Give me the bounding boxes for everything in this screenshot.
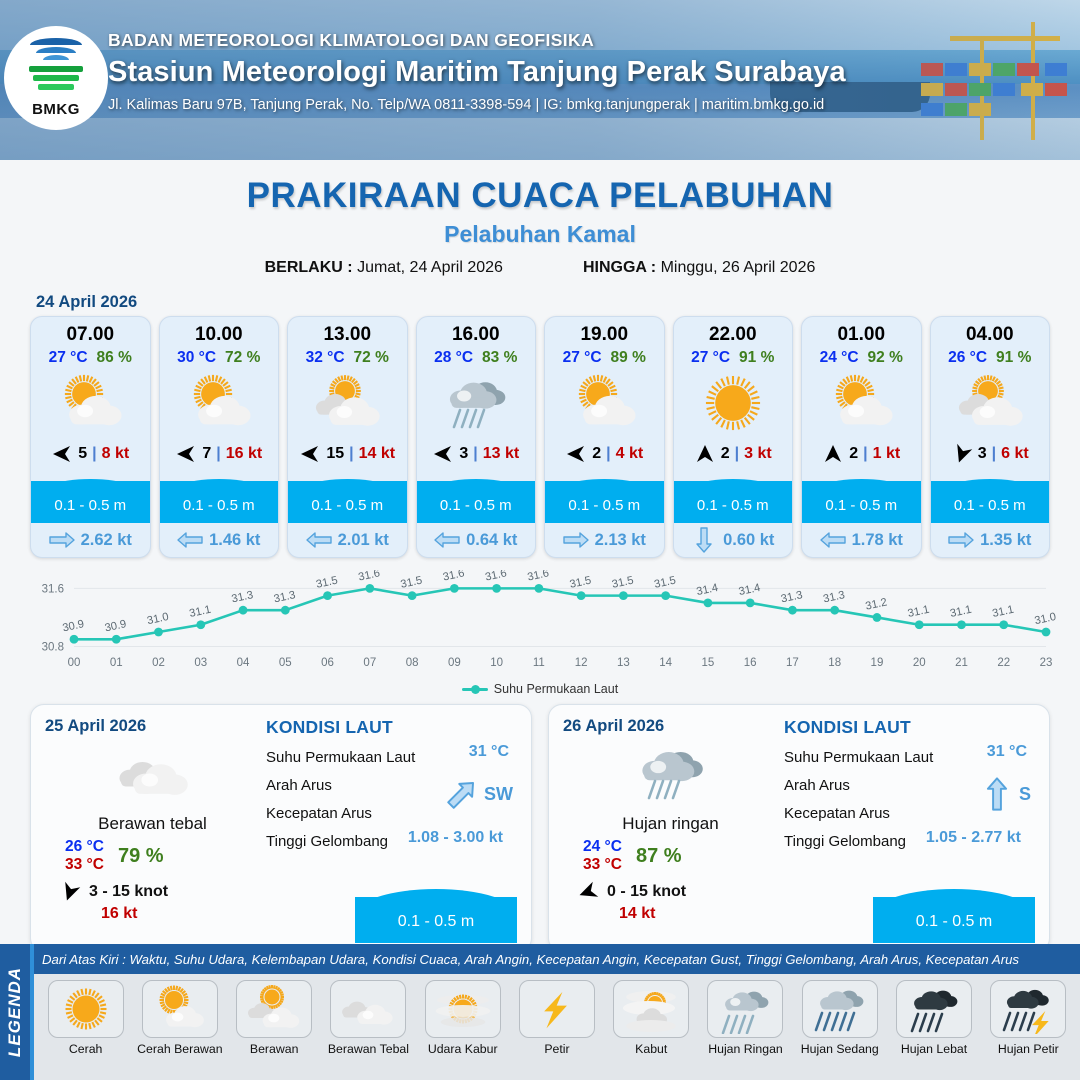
current-direction-arrow-icon [948, 530, 974, 550]
svg-text:08: 08 [406, 657, 419, 669]
validity-row: BERLAKU : Jumat, 24 April 2026 HINGGA : … [0, 259, 1080, 277]
daily-temps: 26 °C 33 °C 79 % [45, 838, 260, 874]
card-temperature: 32 °C [306, 349, 345, 367]
card-wind-separator: | [349, 445, 353, 463]
daily-wind-value: 0 - 15 knot [607, 883, 686, 901]
card-wave-height: 0.1 - 0.5 m [288, 497, 407, 514]
card-temp-hum: 24 °C 92 % [802, 349, 921, 367]
chart-legend-label: Suhu Permukaan Laut [494, 682, 618, 696]
chart-legend-marker-icon [462, 688, 488, 691]
svg-text:31.1: 31.1 [949, 604, 973, 620]
legend-item: Hujan Petir [985, 980, 1072, 1080]
daily-sea-conditions: KONDISI LAUT Suhu Permukaan Laut Arah Ar… [778, 717, 1035, 941]
current-direction-arrow-icon [820, 530, 846, 550]
svg-text:31.3: 31.3 [273, 589, 297, 605]
legend-note: Dari Atas Kiri : Waktu, Suhu Udara, Kele… [42, 952, 1074, 967]
cerah-berawan-icon [160, 367, 279, 439]
card-wave: 0.1 - 0.5 m [160, 471, 279, 523]
speed-label: Kecepatan Arus [266, 805, 517, 822]
card-wave: 0.1 - 0.5 m [288, 471, 407, 523]
daily-condition: Berawan tebal [45, 814, 260, 834]
current-direction-arrow-icon [980, 781, 1014, 807]
speed-value: 1.05 - 2.77 kt [926, 829, 1021, 847]
card-wind-separator: | [606, 445, 610, 463]
speed-value: 1.08 - 3.00 kt [408, 829, 503, 847]
card-time: 10.00 [160, 317, 279, 346]
card-temp-hum: 27 °C 91 % [674, 349, 793, 367]
current-direction-arrow-icon [434, 530, 460, 550]
card-wind: 2 | 3 kt [674, 439, 793, 469]
svg-text:10: 10 [490, 657, 503, 669]
legend-item: Udara Kabur [419, 980, 506, 1080]
svg-text:30.9: 30.9 [104, 618, 128, 634]
card-wave-height: 0.1 - 0.5 m [802, 497, 921, 514]
card-time: 13.00 [288, 317, 407, 346]
svg-text:31.6: 31.6 [357, 570, 381, 584]
berawan-tebal-icon [330, 980, 406, 1038]
card-wind: 5 | 8 kt [31, 439, 150, 469]
card-humidity: 86 % [97, 349, 132, 367]
forecast-card: 04.00 26 °C 91 % 3 | 6 kt 0.1 - 0.5 m [930, 316, 1051, 558]
wind-direction-arrow-icon [951, 444, 973, 464]
card-wind-separator: | [992, 445, 996, 463]
legend-item: Kabut [608, 980, 695, 1080]
svg-text:02: 02 [152, 657, 165, 669]
svg-text:05: 05 [279, 657, 292, 669]
daily-temp-max: 33 °C [583, 856, 622, 874]
current-direction-arrow-icon [177, 530, 203, 550]
svg-text:31.4: 31.4 [738, 582, 762, 598]
cerah-icon [48, 980, 124, 1038]
svg-text:31.0: 31.0 [146, 611, 170, 627]
legend-item-label: Hujan Ringan [708, 1042, 783, 1056]
forecast-card: 13.00 32 °C 72 % 15 | 14 kt 0.1 - 0.5 m [287, 316, 408, 558]
card-current: 0.64 kt [417, 523, 536, 557]
arus-value-group: SW [445, 781, 513, 807]
daily-date: 26 April 2026 [563, 717, 778, 736]
svg-text:31.0: 31.0 [1033, 611, 1057, 627]
card-current-speed: 2.62 kt [81, 531, 132, 550]
svg-text:22: 22 [997, 657, 1010, 669]
agency-name: BADAN METEOROLOGI KLIMATOLOGI DAN GEOFIS… [108, 30, 846, 51]
cerah-icon [674, 367, 793, 439]
logo-label: BMKG [32, 101, 80, 118]
card-wind: 7 | 16 kt [160, 439, 279, 469]
kabut-icon [613, 980, 689, 1038]
sst-value: 31 °C [987, 743, 1027, 761]
berawan-icon [236, 980, 312, 1038]
card-wind-direction: 3 [459, 445, 468, 463]
card-wind: 2 | 1 kt [802, 439, 921, 469]
forecast-date-label: 24 April 2026 [36, 293, 1080, 312]
card-time: 16.00 [417, 317, 536, 346]
card-wind: 3 | 6 kt [931, 439, 1050, 469]
svg-text:31.1: 31.1 [991, 604, 1015, 620]
current-direction-arrow-icon [306, 530, 332, 550]
legend-item: Hujan Lebat [890, 980, 977, 1080]
card-wave-height: 0.1 - 0.5 m [674, 497, 793, 514]
daily-wave-height: 0.1 - 0.5 m [355, 913, 517, 931]
current-direction-arrow-icon [49, 530, 75, 550]
arus-value: SW [484, 784, 513, 805]
sea-section-title: KONDISI LAUT [266, 717, 517, 738]
card-current: 2.62 kt [31, 523, 150, 557]
card-wind-direction: 2 [592, 445, 601, 463]
logo-arc-icon [30, 38, 82, 62]
svg-text:07: 07 [363, 657, 376, 669]
daily-condition: Hujan ringan [563, 814, 778, 834]
card-current-speed: 2.13 kt [595, 531, 646, 550]
svg-text:17: 17 [786, 657, 799, 669]
card-current: 1.35 kt [931, 523, 1050, 557]
card-wave: 0.1 - 0.5 m [417, 471, 536, 523]
legend-item: Cerah [42, 980, 129, 1080]
chart-legend: Suhu Permukaan Laut [0, 682, 1080, 696]
card-wind-direction: 15 [326, 445, 344, 463]
card-gust-speed: 4 kt [616, 445, 644, 463]
card-time: 07.00 [31, 317, 150, 346]
card-current-speed: 2.01 kt [338, 531, 389, 550]
hujan-lebat-icon [896, 980, 972, 1038]
card-wind: 2 | 4 kt [545, 439, 664, 469]
svg-text:31.6: 31.6 [484, 570, 508, 584]
card-gust-speed: 8 kt [102, 445, 130, 463]
sst-value: 31 °C [469, 743, 509, 761]
card-current: 2.13 kt [545, 523, 664, 557]
svg-text:21: 21 [955, 657, 968, 669]
card-temp-hum: 28 °C 83 % [417, 349, 536, 367]
card-temperature: 27 °C [49, 349, 88, 367]
wind-direction-arrow-icon [175, 444, 197, 464]
cerah-berawan-icon [31, 367, 150, 439]
daily-wind: 0 - 15 knot [563, 882, 778, 902]
wind-direction-arrow-icon [59, 882, 81, 902]
daily-wind: 3 - 15 knot [45, 882, 260, 902]
card-wind-direction: 2 [849, 445, 858, 463]
svg-text:20: 20 [913, 657, 926, 669]
card-gust-speed: 1 kt [873, 445, 901, 463]
daily-temps: 24 °C 33 °C 87 % [563, 838, 778, 874]
svg-text:12: 12 [575, 657, 588, 669]
header-text-block: BADAN METEOROLOGI KLIMATOLOGI DAN GEOFIS… [108, 30, 846, 113]
legend-tab-label: LEGENDA [5, 967, 25, 1057]
hujan-ringan-icon [563, 738, 778, 810]
station-name: Stasiun Meteorologi Maritim Tanjung Pera… [108, 56, 846, 89]
card-temp-hum: 30 °C 72 % [160, 349, 279, 367]
page-title-block: PRAKIRAAN CUACA PELABUHAN Pelabuhan Kama… [0, 160, 1080, 277]
svg-text:31.6: 31.6 [42, 583, 64, 595]
current-direction-arrow-icon [563, 530, 589, 550]
svg-text:03: 03 [194, 657, 207, 669]
card-time: 22.00 [674, 317, 793, 346]
card-current: 2.01 kt [288, 523, 407, 557]
card-humidity: 89 % [611, 349, 646, 367]
bmkg-logo: BMKG [4, 26, 108, 130]
legend-section: LEGENDA Dari Atas Kiri : Waktu, Suhu Uda… [0, 944, 1080, 1080]
card-gust-speed: 13 kt [483, 445, 519, 463]
card-wind-direction: 7 [202, 445, 211, 463]
wind-direction-arrow-icon [51, 444, 73, 464]
wind-direction-arrow-icon [577, 882, 599, 902]
forecast-card: 10.00 30 °C 72 % 7 | 16 kt 0.1 - 0.5 m 1… [159, 316, 280, 558]
daily-panel-list: 25 April 2026 Berawan tebal 26 °C 33 °C … [0, 696, 1080, 952]
card-current-speed: 1.78 kt [852, 531, 903, 550]
card-wave-height: 0.1 - 0.5 m [931, 497, 1050, 514]
legend-icon-panel: Cerah Cerah Berawan Berawan Beraw [34, 974, 1080, 1080]
page-header: BMKG BADAN METEOROLOGI KLIMATOLOGI DAN G… [0, 0, 1080, 160]
card-wave-height: 0.1 - 0.5 m [31, 497, 150, 514]
legend-item-label: Berawan Tebal [328, 1042, 409, 1056]
card-wave: 0.1 - 0.5 m [802, 471, 921, 523]
card-wind-separator: | [216, 445, 220, 463]
cerah-berawan-icon [545, 367, 664, 439]
card-temperature: 24 °C [820, 349, 859, 367]
legend-item: Berawan Tebal [325, 980, 412, 1080]
svg-text:19: 19 [871, 657, 884, 669]
daily-temp-min: 26 °C [65, 838, 104, 856]
card-current-speed: 0.60 kt [723, 531, 774, 550]
card-humidity: 92 % [868, 349, 903, 367]
card-wave: 0.1 - 0.5 m [674, 471, 793, 523]
forecast-card: 22.00 27 °C 91 % 2 | 3 kt 0.1 - 0.5 m 0.… [673, 316, 794, 558]
svg-text:31.6: 31.6 [526, 570, 550, 584]
wind-direction-arrow-icon [565, 444, 587, 464]
card-humidity: 72 % [354, 349, 389, 367]
card-current: 0.60 kt [674, 523, 793, 557]
card-wind-direction: 3 [978, 445, 987, 463]
card-wind-separator: | [863, 445, 867, 463]
valid-from: BERLAKU : Jumat, 24 April 2026 [265, 259, 503, 277]
arus-value-group: S [980, 781, 1031, 807]
daily-temp-max: 33 °C [65, 856, 104, 874]
card-gust-speed: 16 kt [226, 445, 262, 463]
card-current: 1.78 kt [802, 523, 921, 557]
daily-temp-min: 24 °C [583, 838, 622, 856]
svg-text:31.6: 31.6 [442, 570, 466, 584]
petir-icon [519, 980, 595, 1038]
berawan-tebal-icon [45, 738, 260, 810]
svg-text:11: 11 [533, 657, 545, 669]
svg-text:31.1: 31.1 [907, 604, 931, 620]
card-wave-height: 0.1 - 0.5 m [417, 497, 536, 514]
svg-text:06: 06 [321, 657, 334, 669]
daily-date: 25 April 2026 [45, 717, 260, 736]
hujan-ringan-icon [417, 367, 536, 439]
card-wind-direction: 5 [78, 445, 87, 463]
legend-item-label: Hujan Lebat [901, 1042, 967, 1056]
legend-item-label: Petir [544, 1042, 569, 1056]
card-humidity: 72 % [225, 349, 260, 367]
svg-text:16: 16 [744, 657, 757, 669]
legend-item: Hujan Ringan [702, 980, 789, 1080]
legend-item: Cerah Berawan [136, 980, 223, 1080]
card-current: 1.46 kt [160, 523, 279, 557]
card-temp-hum: 26 °C 91 % [931, 349, 1050, 367]
legend-item-label: Udara Kabur [428, 1042, 498, 1056]
daily-gust: 16 kt [45, 905, 260, 923]
svg-text:31.2: 31.2 [864, 596, 888, 612]
card-humidity: 91 % [996, 349, 1031, 367]
card-temp-hum: 32 °C 72 % [288, 349, 407, 367]
card-wind-separator: | [473, 445, 477, 463]
hujan-petir-icon [990, 980, 1066, 1038]
card-humidity: 91 % [739, 349, 774, 367]
current-direction-arrow-icon [445, 781, 479, 807]
page-subtitle: Pelabuhan Kamal [0, 221, 1080, 248]
legend-item-label: Cerah [69, 1042, 103, 1056]
card-temperature: 27 °C [691, 349, 730, 367]
cerah-berawan-icon [802, 367, 921, 439]
card-wind-separator: | [735, 445, 739, 463]
svg-text:14: 14 [659, 657, 672, 669]
card-temp-hum: 27 °C 86 % [31, 349, 150, 367]
berawan-icon [288, 367, 407, 439]
legend-item-label: Hujan Sedang [801, 1042, 879, 1056]
sst-chart: 31.630.830.90030.90131.00231.10331.30431… [18, 570, 1062, 680]
daily-wave-box: 0.1 - 0.5 m [355, 883, 517, 943]
card-time: 19.00 [545, 317, 664, 346]
legend-item-label: Cerah Berawan [137, 1042, 222, 1056]
card-gust-speed: 6 kt [1001, 445, 1029, 463]
svg-text:30.9: 30.9 [61, 618, 85, 634]
valid-to-value: Minggu, 26 April 2026 [661, 259, 816, 276]
daily-wave-height: 0.1 - 0.5 m [873, 913, 1035, 931]
svg-text:18: 18 [828, 657, 841, 669]
legend-item: Hujan Sedang [796, 980, 883, 1080]
forecast-card-list: 07.00 27 °C 86 % 5 | 8 kt 0.1 - 0.5 m 2.… [0, 316, 1080, 558]
wind-direction-arrow-icon [694, 444, 716, 464]
svg-text:04: 04 [237, 657, 250, 669]
daily-panel: 26 April 2026 Hujan ringan 24 °C 33 °C 8… [548, 704, 1050, 952]
card-humidity: 83 % [482, 349, 517, 367]
udara-kabur-icon [425, 980, 501, 1038]
card-wave-height: 0.1 - 0.5 m [545, 497, 664, 514]
forecast-card: 16.00 28 °C 83 % 3 | 13 kt 0.1 - 0.5 m [416, 316, 537, 558]
card-temperature: 28 °C [434, 349, 473, 367]
cerah-berawan-icon [142, 980, 218, 1038]
daily-humidity: 79 % [118, 845, 164, 868]
forecast-card: 19.00 27 °C 89 % 2 | 4 kt 0.1 - 0.5 m 2.… [544, 316, 665, 558]
page-title: PRAKIRAAN CUACA PELABUHAN [0, 176, 1080, 216]
berawan-icon [931, 367, 1050, 439]
svg-text:31.3: 31.3 [780, 589, 804, 605]
svg-text:00: 00 [68, 657, 81, 669]
daily-left: 25 April 2026 Berawan tebal 26 °C 33 °C … [45, 717, 260, 941]
current-direction-arrow-icon [691, 530, 717, 550]
svg-text:01: 01 [110, 657, 123, 669]
card-wave-height: 0.1 - 0.5 m [160, 497, 279, 514]
legend-item-label: Hujan Petir [998, 1042, 1059, 1056]
card-wind: 15 | 14 kt [288, 439, 407, 469]
svg-text:09: 09 [448, 657, 461, 669]
hujan-ringan-icon [707, 980, 783, 1038]
daily-sea-conditions: KONDISI LAUT Suhu Permukaan Laut Arah Ar… [260, 717, 517, 941]
card-wind: 3 | 13 kt [417, 439, 536, 469]
card-wave: 0.1 - 0.5 m [545, 471, 664, 523]
card-time: 04.00 [931, 317, 1050, 346]
daily-panel: 25 April 2026 Berawan tebal 26 °C 33 °C … [30, 704, 532, 952]
legend-tab: LEGENDA [0, 944, 30, 1080]
svg-text:13: 13 [617, 657, 630, 669]
svg-text:30.8: 30.8 [42, 642, 64, 654]
legend-item: Petir [513, 980, 600, 1080]
legend-item: Berawan [231, 980, 318, 1080]
forecast-card: 07.00 27 °C 86 % 5 | 8 kt 0.1 - 0.5 m 2.… [30, 316, 151, 558]
card-temp-hum: 27 °C 89 % [545, 349, 664, 367]
svg-text:23: 23 [1040, 657, 1053, 669]
card-gust-speed: 3 kt [744, 445, 772, 463]
sea-section-title: KONDISI LAUT [784, 717, 1035, 738]
card-wind-separator: | [92, 445, 96, 463]
wind-direction-arrow-icon [822, 444, 844, 464]
valid-to-label: HINGGA : [583, 259, 656, 276]
card-gust-speed: 14 kt [359, 445, 395, 463]
card-temperature: 30 °C [177, 349, 216, 367]
valid-to: HINGGA : Minggu, 26 April 2026 [583, 259, 815, 277]
daily-left: 26 April 2026 Hujan ringan 24 °C 33 °C 8… [563, 717, 778, 941]
hujan-sedang-icon [802, 980, 878, 1038]
card-wind-direction: 2 [721, 445, 730, 463]
card-current-speed: 1.35 kt [980, 531, 1031, 550]
wind-direction-arrow-icon [432, 444, 454, 464]
valid-from-label: BERLAKU : [265, 259, 353, 276]
daily-gust: 14 kt [563, 905, 778, 923]
card-current-speed: 0.64 kt [466, 531, 517, 550]
daily-wave-box: 0.1 - 0.5 m [873, 883, 1035, 943]
card-wave: 0.1 - 0.5 m [931, 471, 1050, 523]
svg-text:31.1: 31.1 [188, 604, 212, 620]
card-current-speed: 1.46 kt [209, 531, 260, 550]
sst-chart-svg: 31.630.830.90030.90131.00231.10331.30431… [18, 570, 1062, 674]
card-temperature: 27 °C [563, 349, 602, 367]
svg-text:31.3: 31.3 [822, 589, 846, 605]
daily-wind-value: 3 - 15 knot [89, 883, 168, 901]
forecast-card: 01.00 24 °C 92 % 2 | 1 kt 0.1 - 0.5 m 1.… [801, 316, 922, 558]
daily-humidity: 87 % [636, 845, 682, 868]
svg-text:15: 15 [702, 657, 715, 669]
card-temperature: 26 °C [948, 349, 987, 367]
legend-item-label: Berawan [250, 1042, 299, 1056]
svg-text:31.3: 31.3 [231, 589, 255, 605]
card-time: 01.00 [802, 317, 921, 346]
legend-item-label: Kabut [635, 1042, 667, 1056]
contact-info: Jl. Kalimas Baru 97B, Tanjung Perak, No.… [108, 97, 846, 113]
logo-bars-icon [29, 66, 83, 98]
arus-value: S [1019, 784, 1031, 805]
svg-text:31.4: 31.4 [695, 582, 719, 598]
wind-direction-arrow-icon [299, 444, 321, 464]
valid-from-value: Jumat, 24 April 2026 [357, 259, 503, 276]
card-wave: 0.1 - 0.5 m [31, 471, 150, 523]
